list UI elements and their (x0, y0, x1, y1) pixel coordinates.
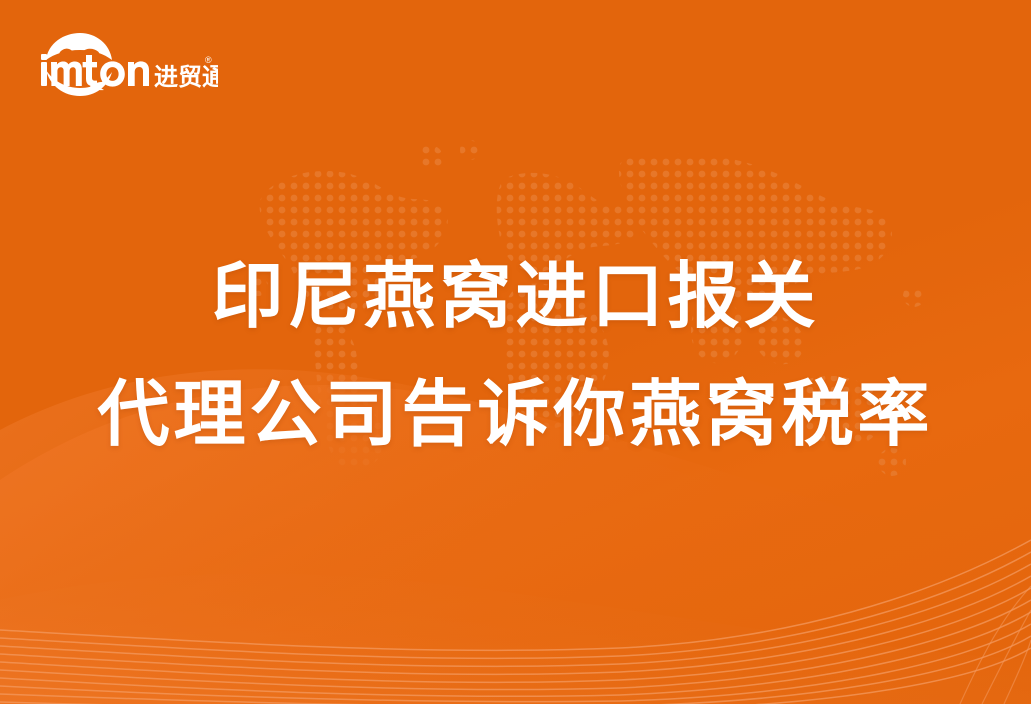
logo-trademark-symbol: ® (205, 55, 212, 65)
brand-logo[interactable]: 进贸通 ® (38, 30, 218, 102)
headline-block: 印尼燕窝进口报关 代理公司告诉你燕窝税率 (0, 238, 1031, 474)
logo-chinese-name: 进贸通 (154, 64, 218, 91)
headline-line-2: 代理公司告诉你燕窝税率 (0, 356, 1031, 474)
promo-banner: 进贸通 ® 印尼燕窝进口报关 代理公司告诉你燕窝税率 (0, 0, 1031, 704)
headline-line-1: 印尼燕窝进口报关 (0, 238, 1031, 356)
logo-wordmark (41, 54, 149, 87)
globe-arc-icon (46, 33, 112, 61)
